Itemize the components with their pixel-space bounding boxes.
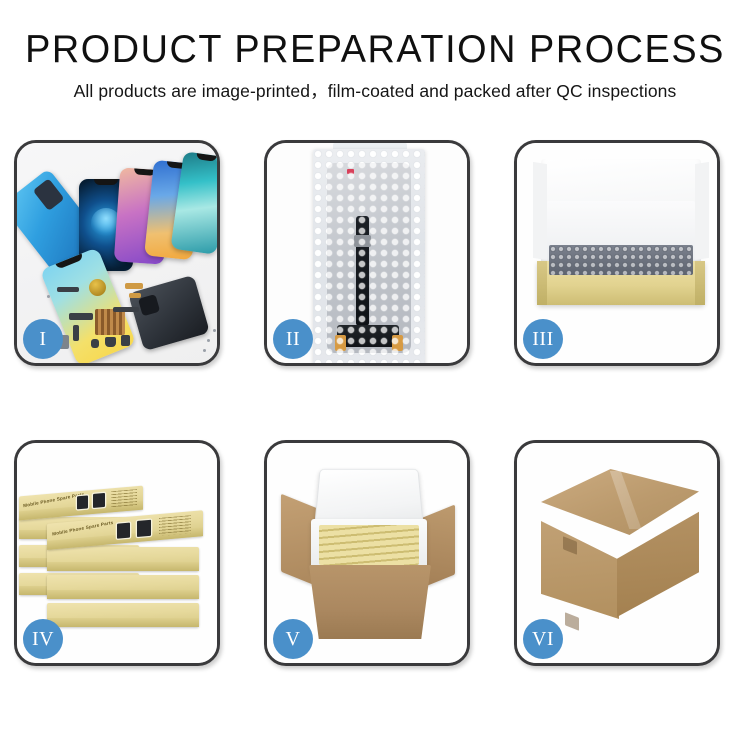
page-title: PRODUCT PREPARATION PROCESS: [11, 30, 739, 69]
bubble-wrapped-contents-graphic: [549, 245, 693, 275]
small-part-graphic: [69, 313, 93, 320]
process-step-panel-6: VI: [514, 440, 720, 666]
step-badge-1: I: [23, 319, 63, 359]
step-badge-5: V: [273, 619, 313, 659]
chip-grid-part-graphic: [95, 309, 125, 335]
process-step-panel-1: I: [14, 140, 220, 366]
small-part-graphic: [73, 325, 79, 341]
process-step-grid: I II: [14, 140, 736, 666]
small-part-graphic: [91, 339, 99, 348]
bubble-texture-overlay: [313, 149, 425, 363]
gold-box-base-graphic: [537, 261, 705, 305]
process-step-panel-2: II: [264, 140, 470, 366]
bubble-wrap-bag-graphic: [313, 149, 425, 363]
vibration-motor-part-graphic: [89, 279, 106, 296]
flex-cable-graphic: [129, 293, 141, 298]
step-badge-2: II: [273, 319, 313, 359]
product-preparation-process-page: PRODUCT PREPARATION PROCESS All products…: [0, 0, 750, 750]
speaker-part-graphic: [105, 337, 116, 347]
box-label-text: Mobile Phone Spare Parts: [52, 520, 114, 537]
page-header: PRODUCT PREPARATION PROCESS All products…: [0, 0, 750, 101]
step-badge-3: III: [523, 319, 563, 359]
process-step-panel-4: Mobile Phone Spare Parts Mobile Phone Sp…: [14, 440, 220, 666]
step-badge-6: VI: [523, 619, 563, 659]
small-part-graphic: [121, 335, 130, 346]
carton-tab-graphic: [565, 612, 579, 631]
page-subtitle: All products are image-printed，film-coat…: [0, 83, 750, 101]
step-badge-4: IV: [23, 619, 63, 659]
process-step-panel-3: III: [514, 140, 720, 366]
packed-gold-boxes-graphic: [319, 525, 419, 565]
process-step-panel-5: V: [264, 440, 470, 666]
flex-cable-graphic: [125, 283, 143, 289]
small-part-graphic: [113, 307, 139, 312]
small-part-graphic: [57, 287, 79, 292]
carton-body-graphic: [309, 565, 431, 639]
